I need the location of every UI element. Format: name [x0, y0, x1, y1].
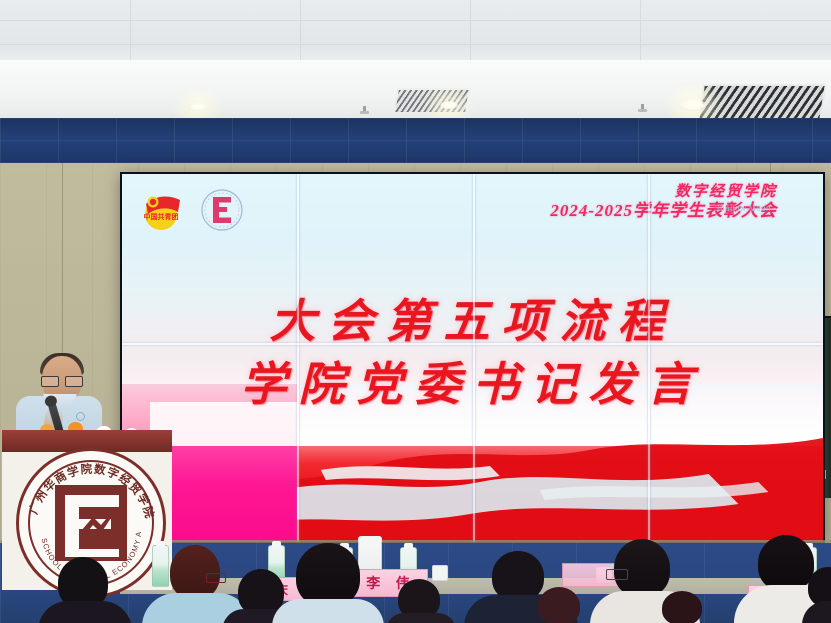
panel-seam-horizontal [122, 343, 823, 345]
slide-header-line1: 数字经贸学院 [550, 184, 777, 201]
panel-seam-vertical [297, 174, 299, 542]
blue-band-texture [0, 118, 831, 163]
audience-person [272, 543, 380, 623]
audience-person [530, 583, 588, 623]
air-vent-secondary-icon [393, 88, 471, 114]
ceiling-tile-grid [0, 0, 831, 62]
ceiling [0, 0, 831, 122]
recessed-downlight-icon [438, 100, 460, 110]
wall-upper-blue-band [0, 118, 831, 163]
recessed-downlight-icon [678, 98, 708, 111]
audience-person [44, 557, 122, 623]
audience-person [654, 585, 710, 623]
recessed-downlight-icon [188, 102, 208, 111]
audience-front-row: 庆 李 伟 刘 [0, 520, 831, 623]
audience-person [388, 579, 450, 623]
conference-hall-photo: 中国共青团 数字经贸学院 2024-2025学年 [0, 0, 831, 623]
panel-seam-vertical [648, 174, 650, 542]
svg-text:中国共青团: 中国共青团 [144, 212, 179, 221]
slide-logo-group: 中国共青团 [140, 188, 244, 232]
air-vent-icon [697, 84, 827, 121]
fire-sprinkler-icon [638, 104, 647, 113]
slide-header: 数字经贸学院 2024-2025学年学生表彰大会 [550, 184, 777, 220]
video-wall-display: 中国共青团 数字经贸学院 2024-2025学年 [122, 174, 823, 542]
glasses-icon [606, 569, 628, 580]
slide-watermark: Shadow Moon [714, 204, 771, 213]
speaker-glasses-icon [41, 376, 83, 385]
panel-seam-vertical [473, 174, 475, 542]
communist-youth-league-emblem-icon: 中国共青团 [140, 188, 184, 232]
glasses-icon [206, 573, 226, 583]
video-wall: 中国共青团 数字经贸学院 2024-2025学年 [120, 172, 825, 544]
audience-person [806, 567, 831, 623]
circle-e-logo-icon [200, 188, 244, 232]
fire-sprinkler-icon [360, 106, 369, 115]
